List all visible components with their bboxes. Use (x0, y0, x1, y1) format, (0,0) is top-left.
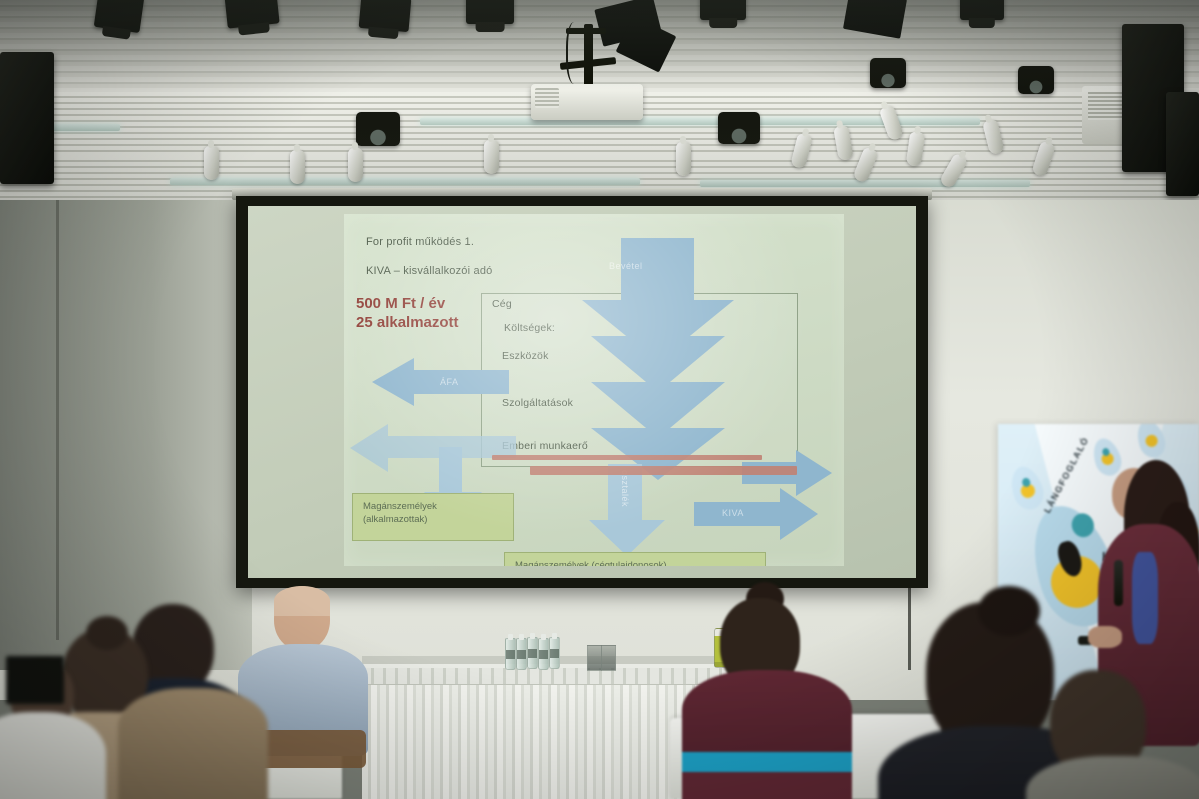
stage-light (359, 0, 412, 32)
ceiling-strip-light (700, 180, 1030, 187)
arrow-label-kiva: KIVA (722, 508, 744, 518)
arrow-kiva-head (780, 488, 818, 540)
red-bar-lower (530, 466, 797, 475)
stage-light (356, 112, 400, 146)
water-bottle (505, 638, 516, 670)
stage-light (1018, 66, 1054, 94)
green-box-employees: Magánszemélyek (alkalmazottak) (352, 493, 514, 541)
ceiling-projector (531, 84, 643, 120)
audience-shirt-stripe (682, 752, 852, 774)
ceiling-strip-light (170, 178, 640, 185)
company-box-item-costs: Költségek: (504, 322, 555, 334)
presentation-room-photo: For profit működés 1. KIVA – kisvállalko… (0, 0, 1199, 799)
stage-light (870, 58, 906, 88)
water-bottle (516, 638, 527, 670)
track-light (348, 148, 363, 182)
audience-torso (118, 688, 268, 799)
stage-light (466, 0, 514, 24)
green-box-employees-label: Magánszemélyek (alkalmazottak) (363, 500, 437, 526)
arrow-left-lower-head (350, 424, 388, 472)
arrow-osztalek-head (589, 520, 665, 556)
company-box-item-services: Szolgáltatások (502, 397, 573, 409)
side-wall-left (0, 200, 252, 670)
water-bottle (527, 637, 538, 669)
slide-red-note-line2: 25 alkalmazott (356, 313, 459, 332)
company-box-title: Cég (492, 298, 512, 310)
stage-light (843, 0, 907, 39)
drinking-glass (601, 645, 616, 671)
audience-hair-bun (86, 616, 128, 650)
stage-light (224, 0, 279, 29)
green-box-owners: Magánszemélyek (cégtulajdonosok) (504, 552, 766, 566)
cable (566, 22, 586, 84)
track-light (290, 150, 305, 184)
track-light (676, 142, 691, 176)
drinking-glass (587, 645, 602, 671)
projector-vent (535, 88, 559, 108)
stage-light (700, 0, 746, 20)
microphone (1114, 560, 1123, 606)
stage-light (94, 0, 145, 33)
red-bar-upper (492, 455, 762, 460)
company-box-item-assets: Eszközök (502, 350, 549, 362)
projected-slide: For profit működés 1. KIVA – kisvállalko… (344, 214, 844, 566)
wall-seam (56, 200, 59, 640)
audience-torso (0, 712, 106, 799)
slide-red-note-line1: 500 M Ft / év (356, 294, 445, 313)
arrow-label-osztalek: osztalék (620, 470, 630, 507)
water-bottle (538, 638, 549, 670)
pa-speaker-right-2 (1166, 92, 1199, 196)
audience-hair-bun (978, 586, 1040, 636)
arrow-label-bevetel: Bevétel (609, 261, 643, 271)
stage-light (960, 0, 1004, 20)
stage-light (718, 112, 760, 144)
arrow-label-afa: ÁFA (440, 377, 459, 387)
arrow-afa-head (372, 358, 414, 406)
green-box-owners-label: Magánszemélyek (cégtulajdonosok) (515, 559, 667, 566)
track-light (204, 146, 219, 180)
water-bottle (549, 637, 560, 669)
slatted-ceiling (0, 0, 1199, 215)
arrow-afa-shaft (414, 370, 509, 394)
presenter-hand (1088, 626, 1122, 648)
audience-bald-top (274, 586, 330, 616)
pa-speaker-left (0, 52, 54, 184)
audience-torso-lower (682, 772, 852, 799)
slide-subheading: KIVA – kisvállalkozói adó (366, 265, 492, 277)
presenter-inner-top (1132, 552, 1158, 644)
track-light (484, 140, 499, 174)
arrow-employees-shaft (439, 447, 462, 497)
slide-heading: For profit működés 1. (366, 236, 474, 248)
laptop-screen (6, 656, 64, 704)
